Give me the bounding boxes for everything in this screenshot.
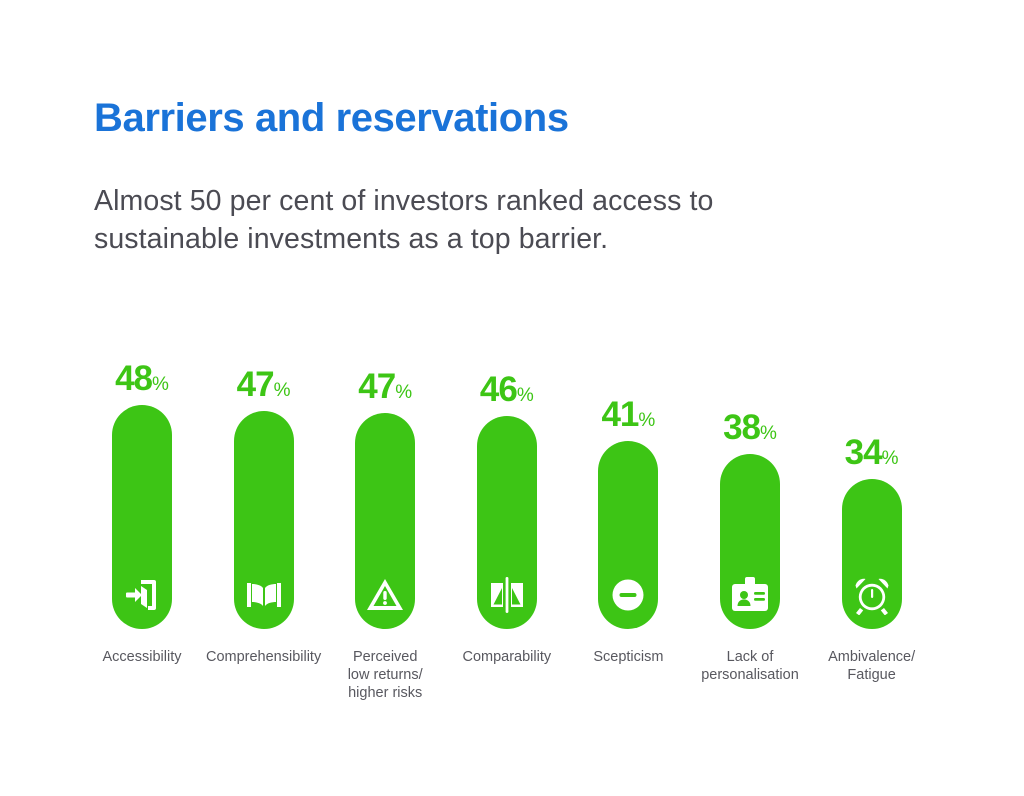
bar-category-label-line: higher risks: [320, 684, 450, 702]
bar-category-label-line: Accessibility: [77, 648, 207, 666]
bar-category-label-line: personalisation: [685, 666, 815, 684]
bar-value-number: 38: [723, 408, 760, 447]
bar-value-percent-sign: %: [638, 410, 655, 431]
exit-door-icon: [122, 575, 162, 615]
open-book-icon: [244, 575, 284, 615]
bar-category-label-line: Lack of: [685, 648, 815, 666]
bar-category-label-line: Scepticism: [563, 648, 693, 666]
bar-category-label: Comprehensibility: [199, 648, 329, 666]
bar-value-label: 46%: [446, 372, 568, 407]
bar-value-label: 48%: [81, 361, 203, 396]
bar-value-number: 47: [358, 367, 395, 406]
bar-value-percent-sign: %: [517, 385, 534, 406]
bar[interactable]: [477, 416, 537, 629]
bar-group[interactable]: 34%Ambivalence/Fatigue: [811, 0, 933, 796]
bar-value-number: 41: [601, 395, 638, 434]
bar-category-label-line: Ambivalence/: [807, 648, 937, 666]
bar[interactable]: [234, 411, 294, 629]
bar-category-label-line: Perceived: [320, 648, 450, 666]
bar-group[interactable]: 38%Lack ofpersonalisation: [689, 0, 811, 796]
bar-category-label: Comparability: [442, 648, 572, 666]
bar-value-number: 34: [845, 433, 882, 472]
bar-value-label: 47%: [324, 369, 446, 404]
id-badge-icon: [730, 575, 770, 615]
bar-value-percent-sign: %: [152, 374, 169, 395]
bar-value-percent-sign: %: [882, 448, 899, 469]
bar-value-label: 38%: [689, 410, 811, 445]
bar[interactable]: [842, 479, 902, 629]
bar-group[interactable]: 46%Comparability: [446, 0, 568, 796]
bar-value-percent-sign: %: [274, 380, 291, 401]
bar-value-number: 47: [237, 365, 274, 404]
bar-value-number: 48: [115, 359, 152, 398]
bar-category-label: Scepticism: [563, 648, 693, 666]
bar-value-label: 47%: [203, 367, 325, 402]
bar-group[interactable]: 48%Accessibility: [81, 0, 203, 796]
bar-group[interactable]: 41%Scepticism: [567, 0, 689, 796]
bar[interactable]: [112, 405, 172, 629]
alarm-clock-icon: [852, 575, 892, 615]
bar-group[interactable]: 47%Comprehensibility: [203, 0, 325, 796]
bar-group[interactable]: 47%Perceivedlow returns/higher risks: [324, 0, 446, 796]
bar-category-label: Lack ofpersonalisation: [685, 648, 815, 684]
bar-category-label-line: low returns/: [320, 666, 450, 684]
bar-category-label-line: Comparability: [442, 648, 572, 666]
bar-category-label-line: Comprehensibility: [199, 648, 329, 666]
bar-value-label: 41%: [567, 397, 689, 432]
bar[interactable]: [720, 454, 780, 629]
bar[interactable]: [598, 441, 658, 629]
minus-circle-icon: [608, 575, 648, 615]
bar-category-label: Ambivalence/Fatigue: [807, 648, 937, 684]
bar-category-label-line: Fatigue: [807, 666, 937, 684]
infographic-root: Barriers and reservations Almost 50 per …: [0, 0, 1024, 796]
bar-chart: 48%Accessibility47%Comprehensibility47%P…: [0, 0, 1024, 796]
bar-value-label: 34%: [811, 435, 933, 470]
warning-triangle-icon: [365, 575, 405, 615]
bar-value-percent-sign: %: [760, 423, 777, 444]
bar-value-percent-sign: %: [395, 382, 412, 403]
bar-value-number: 46: [480, 370, 517, 409]
compare-icon: [487, 575, 527, 615]
bar-category-label: Perceivedlow returns/higher risks: [320, 648, 450, 702]
bar-category-label: Accessibility: [77, 648, 207, 666]
bar[interactable]: [355, 413, 415, 629]
